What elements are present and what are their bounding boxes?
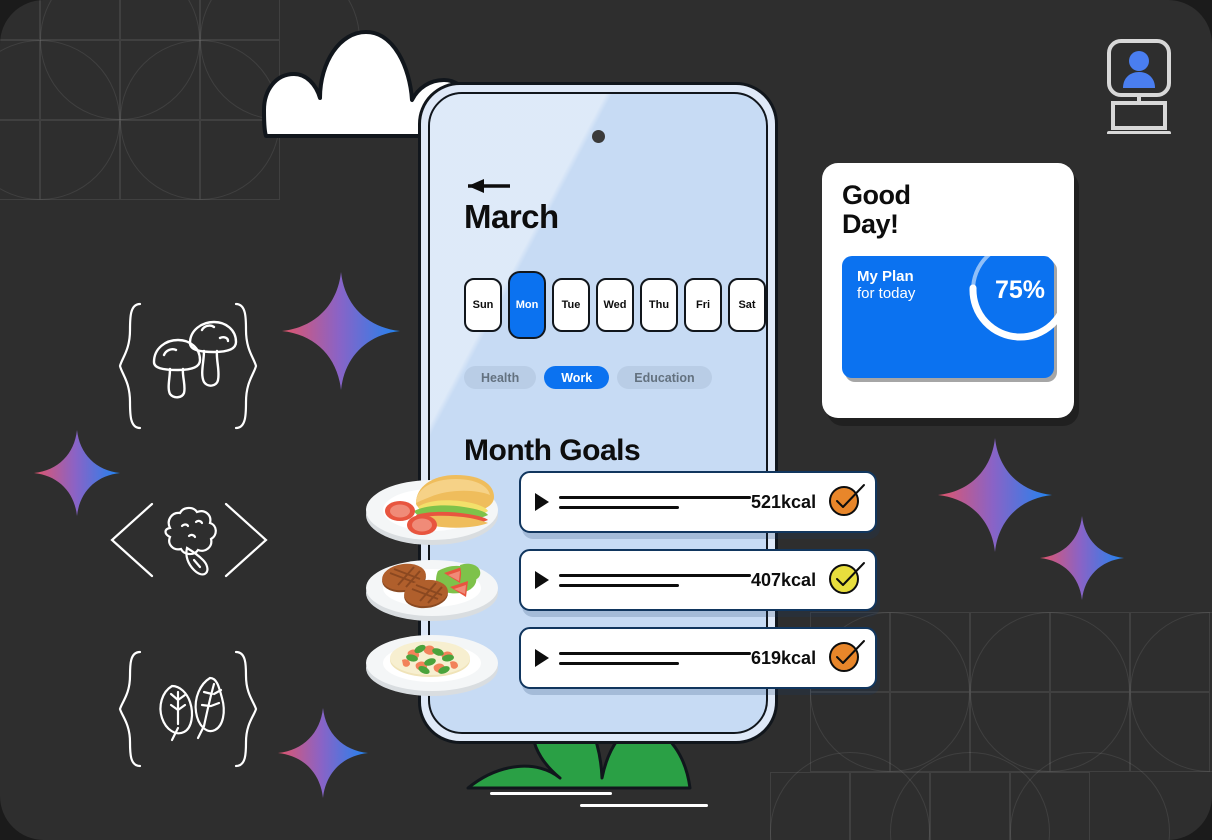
goal-row-1[interactable]: 521kcal <box>519 471 877 533</box>
play-triangle-icon[interactable] <box>535 493 549 511</box>
good-day-title-line1: Good <box>842 181 1054 210</box>
day-chip-sun[interactable]: Sun <box>464 278 502 332</box>
sandwich-tomato-plate <box>364 455 500 556</box>
goal-text-placeholder-bars <box>559 574 751 587</box>
spinach-icon <box>160 678 223 740</box>
sparkle-top-left <box>282 272 400 395</box>
spinach-brace-decoration <box>118 648 258 775</box>
goal-row-2[interactable]: 407kcal <box>519 549 877 611</box>
underline-long <box>580 804 708 807</box>
day-chip-thu[interactable]: Thu <box>640 278 678 332</box>
play-triangle-icon[interactable] <box>535 649 549 667</box>
goal-calories: 521kcal <box>751 492 816 513</box>
steak-salad-plate <box>364 543 500 630</box>
day-chip-mon[interactable]: Mon <box>508 271 546 339</box>
sparkle-bottom-left <box>278 708 368 803</box>
goal-calories: 619kcal <box>751 648 816 669</box>
chip-education[interactable]: Education <box>617 366 711 389</box>
back-arrow-icon[interactable] <box>466 178 510 199</box>
day-selector[interactable]: Sun Mon Tue Wed Thu Fri Sat <box>464 271 766 339</box>
goal-card[interactable]: 619kcal <box>519 627 877 689</box>
presentation-person-icon <box>1104 38 1174 139</box>
progress-percent-label: 75% <box>964 234 1076 346</box>
category-filter-chips[interactable]: Health Work Education <box>464 366 712 389</box>
goal-row-3[interactable]: 619kcal <box>519 627 877 689</box>
front-camera <box>592 130 605 143</box>
illustration-canvas: March Sun Mon Tue Wed Thu Fri Sat Health… <box>0 0 1212 840</box>
sparkle-right-upper <box>938 438 1052 557</box>
day-chip-fri[interactable]: Fri <box>684 278 722 332</box>
day-chip-wed[interactable]: Wed <box>596 278 634 332</box>
goal-card[interactable]: 521kcal <box>519 471 877 533</box>
goal-text-placeholder-bars <box>559 652 751 665</box>
good-day-card: Good Day! My Plan for today 75% <box>822 163 1074 418</box>
chip-work[interactable]: Work <box>544 366 609 389</box>
sparkle-right-lower <box>1040 516 1124 605</box>
play-triangle-icon[interactable] <box>535 571 549 589</box>
broccoli-icon <box>166 508 216 574</box>
mushroom-icon <box>154 322 236 397</box>
goal-card[interactable]: 407kcal <box>519 549 877 611</box>
pasta-shrimp-plate <box>364 622 500 705</box>
progress-ring: 75% <box>964 234 1076 346</box>
broccoli-angle-decoration <box>108 498 270 587</box>
day-chip-tue[interactable]: Tue <box>552 278 590 332</box>
underline-short <box>490 792 612 795</box>
goal-text-placeholder-bars <box>559 496 751 509</box>
check-circle-icon[interactable] <box>828 561 866 600</box>
check-circle-icon[interactable] <box>828 639 866 678</box>
goal-calories: 407kcal <box>751 570 816 591</box>
day-chip-sat[interactable]: Sat <box>728 278 766 332</box>
mushroom-brace-decoration <box>118 300 258 437</box>
month-title: March <box>464 198 559 236</box>
chip-health[interactable]: Health <box>464 366 536 389</box>
check-circle-icon[interactable] <box>828 483 866 522</box>
my-plan-card[interactable]: My Plan for today 75% <box>842 256 1054 378</box>
